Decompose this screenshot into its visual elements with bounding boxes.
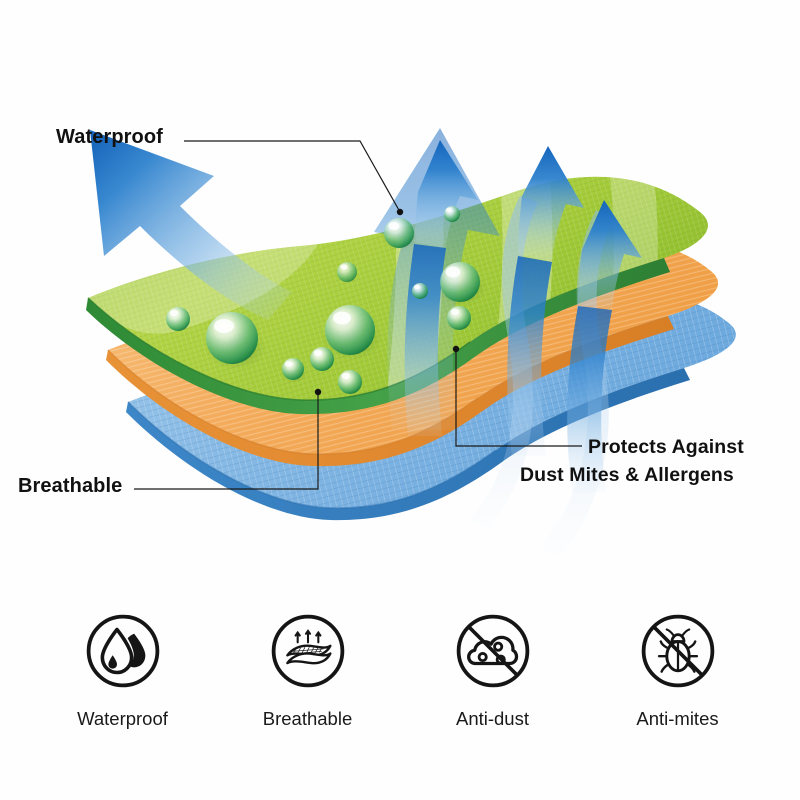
feature-label-breathable: Breathable xyxy=(263,708,352,730)
infographic-canvas: Waterproof Breathable Protects Against D… xyxy=(0,0,800,800)
droplet xyxy=(447,306,471,330)
droplet xyxy=(338,370,362,394)
droplet xyxy=(412,283,428,299)
feature-label-waterproof: Waterproof xyxy=(77,708,168,730)
water-drop-icon xyxy=(80,608,166,694)
leader-dot-breathable xyxy=(315,389,321,395)
callout-label-breathable: Breathable xyxy=(18,475,122,498)
no-dust-cloud-icon xyxy=(450,608,536,694)
fabric-layers-airflow-icon xyxy=(265,608,351,694)
droplet xyxy=(310,347,334,371)
callout-protects-line-2: Dust Mites & Allergens xyxy=(520,462,744,490)
feature-anti-mites: Anti-mites xyxy=(610,608,745,730)
feature-label-anti-dust: Anti-dust xyxy=(456,708,529,730)
droplet xyxy=(444,206,460,222)
callout-label-protects-against: Protects Against Dust Mites & Allergens xyxy=(588,434,744,489)
leader-dot-waterproof xyxy=(397,209,403,215)
feature-anti-dust: Anti-dust xyxy=(425,608,560,730)
feature-label-anti-mites: Anti-mites xyxy=(636,708,718,730)
no-bug-icon xyxy=(635,608,721,694)
callout-protects-line-1: Protects Against xyxy=(588,436,744,458)
droplet xyxy=(337,262,357,282)
leader-dot-protects xyxy=(453,346,459,352)
feature-icon-row: Waterproof xyxy=(0,608,800,730)
droplet xyxy=(166,307,190,331)
leader-line-waterproof xyxy=(184,141,400,212)
callout-label-waterproof: Waterproof xyxy=(56,126,163,149)
feature-breathable: Breathable xyxy=(240,608,375,730)
feature-waterproof: Waterproof xyxy=(55,608,190,730)
